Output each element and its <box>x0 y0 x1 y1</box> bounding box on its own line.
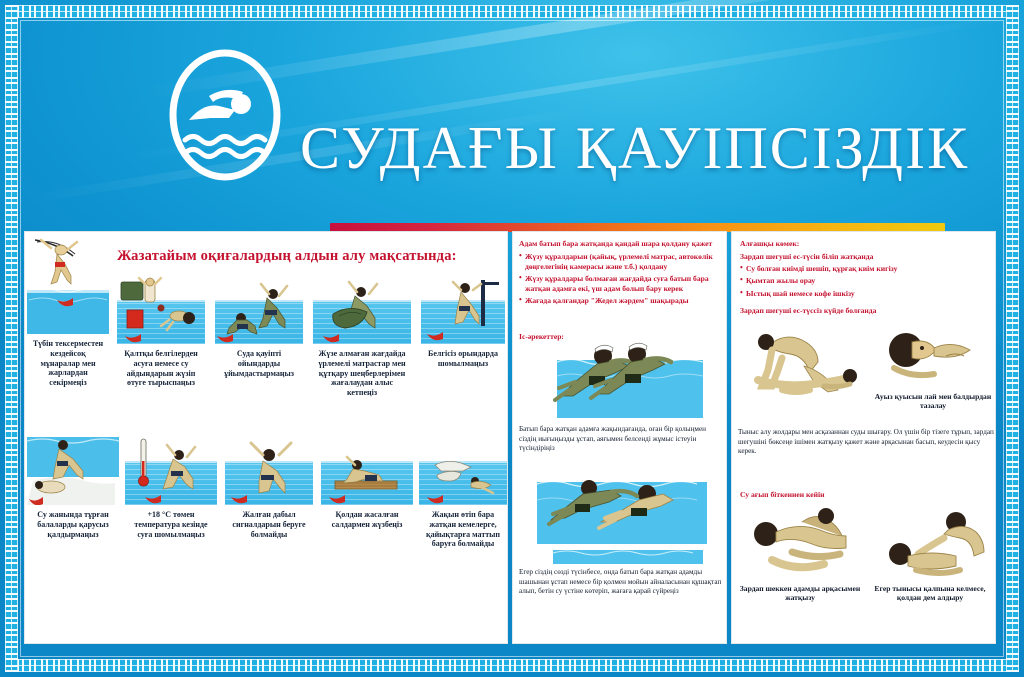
unknown-place-icon <box>421 276 505 344</box>
prevention-item: Жалған дабыл сигналдарын беруге болмайды <box>225 437 313 539</box>
first-aid-bullet: Ыстық шай немесе кофе ішкізу <box>740 289 992 299</box>
actions-bullet-list: Жүзу құралдарын (қайық, үрлемелі матрас,… <box>519 252 724 309</box>
prevention-caption: +18 °C төмен температура кезінде суға шо… <box>125 510 217 539</box>
cold-water-thermometer-icon <box>125 437 217 505</box>
prevention-caption: Суда қауіпті ойындарды ұйымдастырмаңыз <box>215 349 303 378</box>
buoy-marker-icon <box>117 276 205 344</box>
actions-bullet: Жүзу құралдары болмаған жағдайда суға ба… <box>519 274 724 294</box>
prevention-caption: Белгісіз орындарда шомылмаңыз <box>421 349 505 369</box>
prevention-item: Суда қауіпті ойындарды ұйымдастырмаңыз <box>215 276 303 378</box>
first-aid-bullet-list: Су болған киімді шешіп, құрғақ киім кигі… <box>740 264 992 301</box>
prevention-caption: Қалтқы белгілерден асуға немесе су айдын… <box>117 349 205 388</box>
cleaning-mouth-icon <box>872 320 992 388</box>
false-alarm-icon <box>225 437 313 505</box>
first-aid-unconscious-subtitle: Зардап шегуші ес-түссіз күйде болғанда <box>740 306 876 316</box>
prevention-row-1: Түбін тексерместен кездейсоқ мұнаралар м… <box>25 268 508 418</box>
border-top-ornament <box>5 5 1019 18</box>
prevention-item: Жүзе алмаған жағдайда үрлемелі матрастар… <box>313 276 411 398</box>
prevention-item: Су жанында тұрған балаларды қарусыз қалд… <box>27 437 119 539</box>
safety-poster: СУДАҒЫ ҚАУІПСІЗДІК Жазатайым оқиғалардың… <box>0 0 1024 677</box>
inflatable-mattress-icon <box>313 276 411 344</box>
first-aid-caption: Ауыз қуысын лай мен балдырдан тазалау <box>872 392 994 411</box>
first-aid-water-removal-text: Тыныс алу жолдары мен асқазаннан суды шы… <box>738 428 994 457</box>
first-aid-after-water-subtitle: Су ағып біткеннен кейін <box>740 490 824 500</box>
homemade-raft-icon <box>321 437 413 505</box>
actions-title: Адам батып бара жатқанда қандай шара қол… <box>519 239 722 249</box>
actions-step1-text: Батып бара жатқан адамға жақындағанда, о… <box>519 425 724 454</box>
prevention-heading: Жазатайым оқиғалардың алдын алу мақсатын… <box>117 248 457 265</box>
content-board: Жазатайым оқиғалардың алдын алу мақсатын… <box>24 231 1000 644</box>
first-aid-conscious-subtitle: Зардап шегуші ес-түсін біліп жатқанда <box>740 252 873 262</box>
poster-header: СУДАҒЫ ҚАУІПСІЗДІК <box>0 40 1024 200</box>
two-swimmers-rescue-icon <box>541 334 716 418</box>
dangerous-game-icon <box>215 276 303 344</box>
prevention-item: Жақын өтіп бара жатқан кемелерге, қайықт… <box>419 437 507 549</box>
prevention-caption: Жалған дабыл сигналдарын беруге болмайды <box>225 510 313 539</box>
artificial-respiration-icon <box>870 504 992 582</box>
actions-step2-text: Егер сіздің сөзді түсінбесе, онда батып … <box>519 568 724 597</box>
page-title: СУДАҒЫ ҚАУІПСІЗДІК <box>300 118 969 178</box>
diver-jumping-icon <box>27 238 109 334</box>
swimmer-towing-victim-icon <box>527 464 717 544</box>
panel-prevention: Жазатайым оқиғалардың алдын алу мақсатын… <box>24 231 508 644</box>
first-aid-title: Алғашқы көмек: <box>740 239 799 249</box>
prevention-item: +18 °C төмен температура кезінде суға шо… <box>125 437 217 539</box>
prevention-caption: Су жанында тұрған балаларды қарусыз қалд… <box>27 510 119 539</box>
swimmer-in-circle-icon <box>165 48 285 183</box>
panel-first-aid: Алғашқы көмек: Зардап шегуші ес-түсін бі… <box>731 231 996 644</box>
prevention-item: Қолдан жасалған салдармен жүзбеңіз <box>321 437 413 530</box>
prevention-caption: Жақын өтіп бара жатқан кемелерге, қайықт… <box>419 510 507 549</box>
first-aid-caption: Зардап шеккен адамды арқасымен жатқызу <box>736 584 864 603</box>
actions-bullet: Жүзу құралдарын (қайық, үрлемелі матрас,… <box>519 252 724 272</box>
first-aid-bullet: Су болған киімді шешіп, құрғақ киім кигі… <box>740 264 992 274</box>
prevention-item: Түбін тексерместен кездейсоқ мұнаралар м… <box>27 238 109 388</box>
actions-bullet: Жағада қалғандар "Жедел жәрдем" шақырады <box>519 296 724 306</box>
prevention-item: Белгісіз орындарда шомылмаңыз <box>421 276 505 369</box>
panel-actions: Адам батып бара жатқанда қандай шара қол… <box>512 231 727 644</box>
prevention-caption: Қолдан жасалған салдармен жүзбеңіз <box>321 510 413 530</box>
towing-to-shore-icon <box>553 550 703 564</box>
prevention-caption: Түбін тексерместен кездейсоқ мұнаралар м… <box>27 339 109 388</box>
prevention-item: Қалтқы белгілерден асуға немесе су айдын… <box>117 276 205 388</box>
prevention-caption: Жүзе алмаған жағдайда үрлемелі матрастар… <box>313 349 411 398</box>
kneeling-over-victim-icon <box>738 320 866 400</box>
passing-boat-icon <box>419 437 507 505</box>
first-aid-caption: Егер тынысы қалпына келмесе, қолдан дем … <box>866 584 994 603</box>
prevention-row-2: Су жанында тұрған балаларды қарусыз қалд… <box>25 437 508 592</box>
children-unattended-icon <box>27 437 119 505</box>
border-bottom-ornament <box>5 659 1019 672</box>
victim-on-back-icon <box>742 504 862 582</box>
first-aid-bullet: Қымтап жылы орау <box>740 276 992 286</box>
